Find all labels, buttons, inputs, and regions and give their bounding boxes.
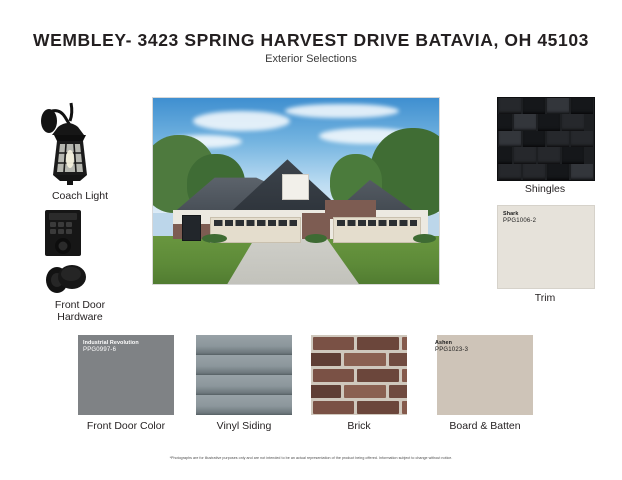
vinyl-siding-swatch — [196, 335, 292, 415]
trim-chip-code: PPG1006-2 — [503, 218, 536, 225]
brick-course — [311, 399, 407, 415]
coach-light-caption: Coach Light — [10, 190, 150, 202]
shingles-swatch — [497, 97, 595, 181]
brick-unit — [389, 353, 407, 366]
brick-unit — [402, 369, 407, 382]
shingle-tab — [547, 98, 569, 114]
shingle-tab — [497, 114, 512, 130]
shingle-tab — [514, 147, 536, 163]
keypad-deadbolt-icon — [44, 209, 82, 257]
shingle-tab — [547, 131, 569, 147]
brick-unit — [313, 401, 355, 414]
shingle-tab — [547, 164, 569, 180]
board-batten-chip-label: Ashen PPG1023-3 — [435, 340, 468, 354]
trim-caption: Trim — [480, 292, 610, 304]
brick-unit — [357, 369, 399, 382]
brick-unit — [402, 337, 407, 350]
shingle-tab — [523, 164, 545, 180]
page-subtitle: Exterior Selections — [0, 53, 622, 65]
brick-unit — [313, 337, 355, 350]
shingle-tab — [571, 131, 593, 147]
vinyl-siding-caption: Vinyl Siding — [180, 420, 308, 432]
shingle-tab — [571, 98, 593, 114]
board-and-batten-caption: Board & Batten — [421, 420, 549, 432]
brick-caption: Brick — [295, 420, 423, 432]
shingle-row — [497, 147, 585, 163]
shrub — [413, 234, 436, 243]
shingle-row — [498, 98, 594, 114]
front-door-hardware-caption-line1: Front Door — [10, 299, 150, 311]
brick-unit — [357, 401, 399, 414]
exterior-selections-sheet: WEMBLEY- 3423 SPRING HARVEST DRIVE BATAV… — [0, 0, 622, 480]
shingles-caption: Shingles — [480, 183, 610, 195]
shingle-tab — [499, 98, 521, 114]
garage-door — [333, 217, 421, 243]
garage-window — [337, 220, 418, 226]
brick-unit — [344, 353, 386, 366]
siding-lap — [196, 395, 292, 415]
shingle-tab — [497, 147, 512, 163]
brick-unit — [313, 369, 355, 382]
shingle-row — [497, 114, 585, 130]
door-knob-icon — [44, 258, 88, 294]
brick-unit — [389, 385, 407, 398]
front-door-color-swatch: Industrial Revolution PPG0997-6 — [78, 335, 174, 415]
siding-lap — [196, 375, 292, 396]
lantern-icon — [30, 97, 110, 185]
shingle-row — [498, 131, 594, 147]
brick-unit — [311, 353, 341, 366]
shingle-tab — [523, 98, 545, 114]
shingle-row — [498, 164, 594, 180]
brick-course — [311, 351, 407, 367]
garage-window — [214, 220, 297, 226]
siding-lap — [196, 355, 292, 376]
trim-chip-label: Shark PPG1006-2 — [503, 211, 536, 225]
shingle-tab — [499, 131, 521, 147]
dormer-window — [282, 174, 310, 200]
board-batten-chip-code: PPG1023-3 — [435, 347, 468, 354]
brick-unit — [311, 385, 341, 398]
shingle-tab — [562, 114, 584, 130]
shingle-tab — [562, 147, 584, 163]
board-and-batten-swatch: Ashen PPG1023-3 — [437, 335, 533, 415]
shingle-tab — [499, 164, 521, 180]
front-door-hardware-caption-line2: Hardware — [10, 311, 150, 323]
shingle-tab — [538, 114, 560, 130]
front-door-chip-code: PPG0997-6 — [83, 347, 139, 354]
siding-lap — [196, 335, 292, 356]
trim-chip-name: Shark — [503, 211, 536, 218]
shingle-tab — [571, 164, 593, 180]
front-door-chip-name: Industrial Revolution — [83, 340, 139, 347]
front-door — [182, 215, 201, 241]
board-batten-chip-name: Ashen — [435, 340, 468, 347]
shingle-tab — [538, 147, 560, 163]
brick-course — [311, 335, 407, 351]
brick-unit — [357, 337, 399, 350]
house-rendering — [152, 97, 440, 285]
shingle-tab — [514, 114, 536, 130]
brick-course — [311, 383, 407, 399]
front-door-chip-label: Industrial Revolution PPG0997-6 — [83, 340, 139, 354]
shingle-tab — [523, 131, 545, 147]
brick-unit — [344, 385, 386, 398]
page-title: WEMBLEY- 3423 SPRING HARVEST DRIVE BATAV… — [0, 30, 622, 51]
front-door-hardware-caption: Front Door Hardware — [10, 299, 150, 323]
trim-swatch: Shark PPG1006-2 — [497, 205, 595, 289]
brick-course — [311, 367, 407, 383]
disclaimer-text: *Photographs are for illustrative purpos… — [0, 456, 622, 460]
brick-unit — [402, 401, 407, 414]
brick-swatch — [311, 335, 407, 415]
front-door-color-caption: Front Door Color — [62, 420, 190, 432]
